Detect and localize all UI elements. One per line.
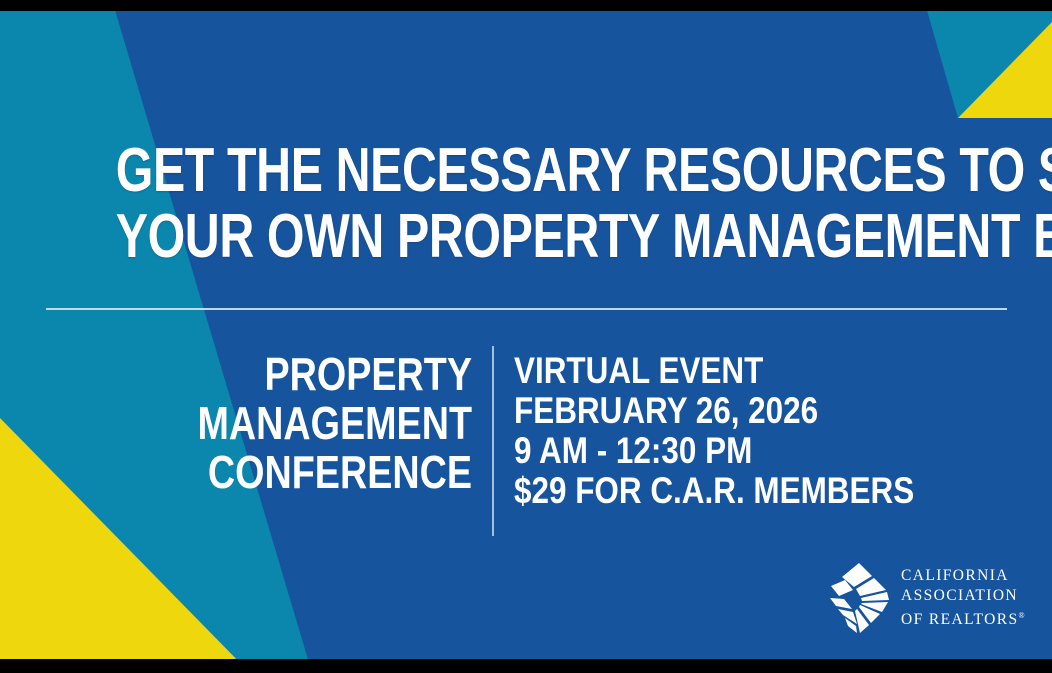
event-title: PROPERTY MANAGEMENT CONFERENCE	[183, 350, 472, 497]
event-date: FEBRUARY 26, 2026	[514, 391, 880, 431]
event-time: 9 AM - 12:30 PM	[514, 431, 880, 471]
headline-line-1: GET THE NECESSARY RESOURCES TO SUPPORT	[116, 138, 937, 204]
car-logo-text: CALIFORNIA ASSOCIATION OF REALTORS®	[901, 566, 1025, 630]
event-price: $29 FOR C.A.R. MEMBERS	[514, 471, 880, 511]
event-title-line-1: PROPERTY	[183, 350, 472, 399]
vertical-divider	[492, 346, 494, 536]
headline-line-2: YOUR OWN PROPERTY MANAGEMENT BUSINESS	[116, 204, 937, 270]
logo-line-association: ASSOCIATION	[901, 586, 1025, 606]
horizontal-divider	[46, 308, 1007, 310]
registered-trademark-icon: ®	[1018, 611, 1024, 620]
top-black-bar	[0, 0, 1052, 11]
event-format: VIRTUAL EVENT	[514, 351, 880, 391]
car-logo: CALIFORNIA ASSOCIATION OF REALTORS®	[826, 556, 1022, 640]
logo-of-realtors-text: OF REALTORS	[901, 611, 1018, 628]
bottom-black-bar	[0, 659, 1052, 673]
event-details: VIRTUAL EVENT FEBRUARY 26, 2026 9 AM - 1…	[514, 351, 880, 511]
logo-line-california: CALIFORNIA	[901, 566, 1025, 586]
logo-line-of-realtors: OF REALTORS®	[901, 606, 1025, 630]
event-title-line-2: MANAGEMENT	[183, 399, 472, 448]
event-title-line-3: CONFERENCE	[183, 448, 472, 497]
conference-promo-poster: GET THE NECESSARY RESOURCES TO SUPPORT Y…	[0, 0, 1052, 673]
headline: GET THE NECESSARY RESOURCES TO SUPPORT Y…	[116, 138, 937, 270]
car-diamond-emblem-icon	[826, 560, 892, 636]
lower-content: PROPERTY MANAGEMENT CONFERENCE VIRTUAL E…	[0, 344, 1052, 544]
